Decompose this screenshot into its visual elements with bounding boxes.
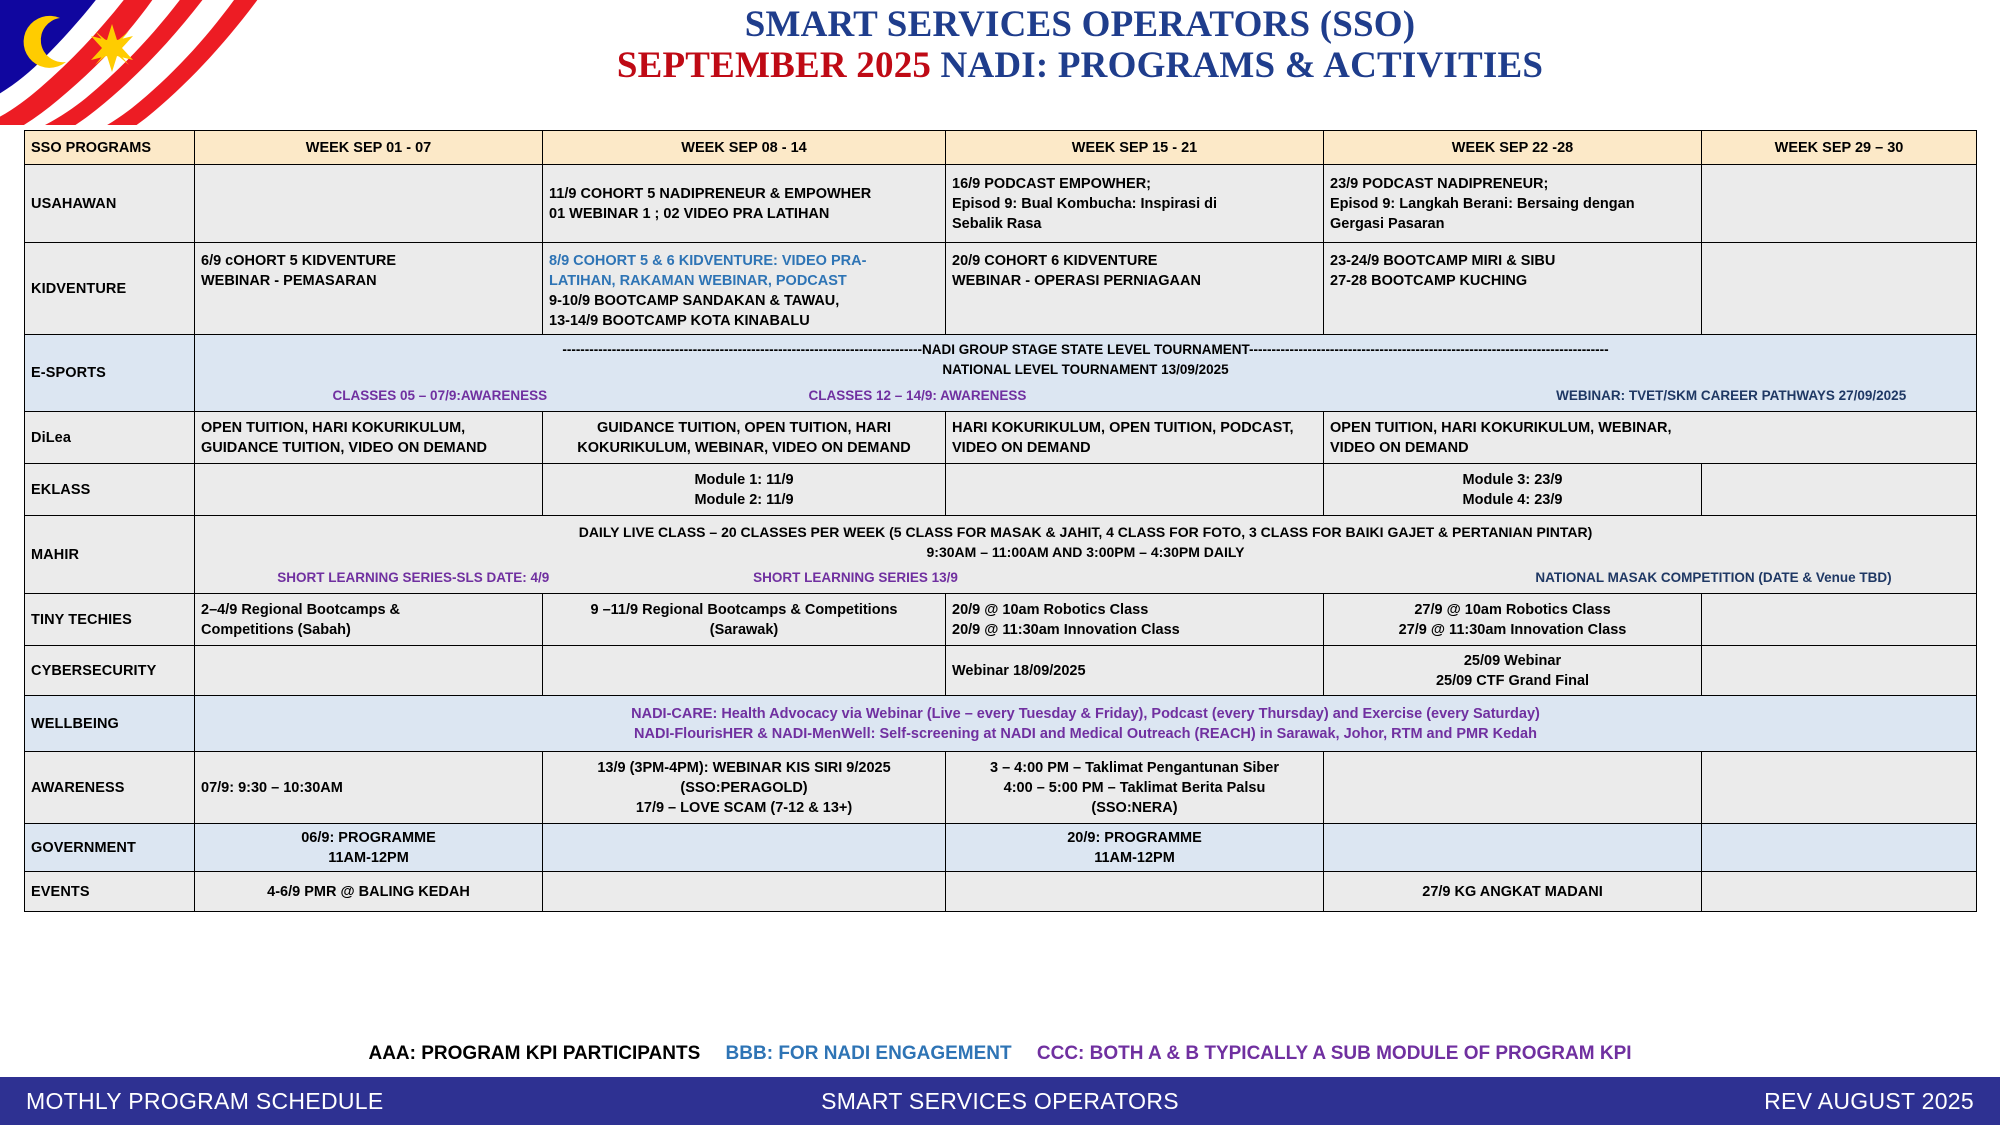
- cell-events-w3: [946, 872, 1324, 912]
- cell-dilea-w3: HARI KOKURIKULUM, OPEN TUITION, PODCAST,…: [946, 412, 1324, 464]
- cell-esports-content: ----------------------------------------…: [195, 335, 1977, 412]
- esports-banner-sub: NATIONAL LEVEL TOURNAMENT 13/09/2025: [201, 360, 1970, 380]
- cell-events-w5: [1702, 872, 1977, 912]
- cell-tiny-w5: [1702, 594, 1977, 646]
- col-header-week1: WEEK SEP 01 - 07: [195, 131, 543, 165]
- table-row-usahawan: USAHAWAN 11/9 COHORT 5 NADIPRENEUR & EMP…: [25, 165, 1977, 243]
- cell-usahawan-w4: 23/9 PODCAST NADIPRENEUR;Episod 9: Langk…: [1324, 165, 1702, 243]
- col-header-week4: WEEK SEP 22 -28: [1324, 131, 1702, 165]
- mahir-competition-w4: NATIONAL MASAK COMPETITION (DATE & Venue…: [1457, 566, 1970, 590]
- cell-dilea-w4: OPEN TUITION, HARI KOKURIKULUM, WEBINAR,…: [1324, 412, 1977, 464]
- cell-kidventure-w5: [1702, 243, 1977, 335]
- wellbeing-line-2: NADI-FlourisHER & NADI-MenWell: Self-scr…: [201, 724, 1970, 744]
- cell-awareness-w5: [1702, 752, 1977, 824]
- cell-eklass-w5: [1702, 464, 1977, 516]
- cell-awareness-w1: 07/9: 9:30 – 10:30AM: [195, 752, 543, 824]
- table-row-awareness: AWARENESS 07/9: 9:30 – 10:30AM 13/9 (3PM…: [25, 752, 1977, 824]
- cell-kidventure-w3: 20/9 COHORT 6 KIDVENTUREWEBINAR - OPERAS…: [946, 243, 1324, 335]
- cell-kidventure-w2: 8/9 COHORT 5 & 6 KIDVENTURE: VIDEO PRA-L…: [543, 243, 946, 335]
- schedule-table: SSO PROGRAMS WEEK SEP 01 - 07 WEEK SEP 0…: [24, 130, 1977, 912]
- cell-events-w2: [543, 872, 946, 912]
- cell-cyber-w3: Webinar 18/09/2025: [946, 646, 1324, 696]
- cell-events-w1: 4-6/9 PMR @ BALING KEDAH: [195, 872, 543, 912]
- cell-government-w3: 20/9: PROGRAMME11AM-12PM: [946, 824, 1324, 872]
- legend-ccc: CCC: BOTH A & B TYPICALLY A SUB MODULE O…: [1037, 1043, 1632, 1064]
- col-header-programs: SSO PROGRAMS: [25, 131, 195, 165]
- cell-cyber-w1: [195, 646, 543, 696]
- mahir-banner-1: DAILY LIVE CLASS – 20 CLASSES PER WEEK (…: [201, 519, 1970, 542]
- cell-awareness-w4: [1324, 752, 1702, 824]
- table-row-eklass: EKLASS Module 1: 11/9Module 2: 11/9 Modu…: [25, 464, 1977, 516]
- cell-government-w1: 06/9: PROGRAMME11AM-12PM: [195, 824, 543, 872]
- wellbeing-line-1: NADI-CARE: Health Advocacy via Webinar (…: [201, 704, 1970, 724]
- mahir-banner-2: 9:30AM – 11:00AM AND 3:00PM – 4:30PM DAI…: [201, 542, 1970, 562]
- program-label-awareness: AWARENESS: [25, 752, 195, 824]
- cell-usahawan-w5: [1702, 165, 1977, 243]
- cell-kidventure-w4: 23-24/9 BOOTCAMP MIRI & SIBU27-28 BOOTCA…: [1324, 243, 1702, 335]
- legend-aaa: AAA: PROGRAM KPI PARTICIPANTS: [368, 1043, 700, 1064]
- table-row-wellbeing: WELLBEING NADI-CARE: Health Advocacy via…: [25, 696, 1977, 752]
- esports-dash-left: ----------------------------------------…: [562, 342, 922, 357]
- legend: AAA: PROGRAM KPI PARTICIPANTS BBB: FOR N…: [0, 1043, 2000, 1065]
- cell-wellbeing-content: NADI-CARE: Health Advocacy via Webinar (…: [195, 696, 1977, 752]
- cell-usahawan-w3: 16/9 PODCAST EMPOWHER;Episod 9: Bual Kom…: [946, 165, 1324, 243]
- program-label-government: GOVERNMENT: [25, 824, 195, 872]
- esports-classes-w2: CLASSES 12 – 14/9: AWARENESS: [679, 384, 1157, 408]
- title-month: SEPTEMBER 2025: [617, 45, 931, 86]
- esports-dash-right: ----------------------------------------…: [1249, 342, 1609, 357]
- table-row-esports: E-SPORTS -------------------------------…: [25, 335, 1977, 412]
- mahir-sls-w2: SHORT LEARNING SERIES 13/9: [626, 566, 1086, 590]
- footer-bar: MOTHLY PROGRAM SCHEDULE SMART SERVICES O…: [0, 1077, 2000, 1125]
- cell-eklass-w1: [195, 464, 543, 516]
- table-row-tiny-techies: TINY TECHIES 2–4/9 Regional Bootcamps &C…: [25, 594, 1977, 646]
- title-subject: NADI: PROGRAMS & ACTIVITIES: [941, 45, 1544, 86]
- footer-left: MOTHLY PROGRAM SCHEDULE: [26, 1088, 384, 1115]
- table-row-events: EVENTS 4-6/9 PMR @ BALING KEDAH 27/9 KG …: [25, 872, 1977, 912]
- col-header-week3: WEEK SEP 15 - 21: [946, 131, 1324, 165]
- cell-mahir-content: DAILY LIVE CLASS – 20 CLASSES PER WEEK (…: [195, 516, 1977, 594]
- program-label-dilea: DiLea: [25, 412, 195, 464]
- program-label-mahir: MAHIR: [25, 516, 195, 594]
- cell-tiny-w2: 9 –11/9 Regional Bootcamps & Competition…: [543, 594, 946, 646]
- table-row-cybersecurity: CYBERSECURITY Webinar 18/09/2025 25/09 W…: [25, 646, 1977, 696]
- cell-cyber-w4: 25/09 Webinar25/09 CTF Grand Final: [1324, 646, 1702, 696]
- cell-kidventure-w1: 6/9 cOHORT 5 KIDVENTUREWEBINAR - PEMASAR…: [195, 243, 543, 335]
- cell-awareness-w3: 3 – 4:00 PM – Taklimat Pengantunan Siber…: [946, 752, 1324, 824]
- col-header-week2: WEEK SEP 08 - 14: [543, 131, 946, 165]
- program-label-wellbeing: WELLBEING: [25, 696, 195, 752]
- malaysia-flag: [0, 0, 300, 125]
- mahir-sls-w1: SHORT LEARNING SERIES-SLS DATE: 4/9: [201, 566, 626, 590]
- cell-usahawan-w1: [195, 165, 543, 243]
- cell-eklass-w3: [946, 464, 1324, 516]
- program-label-eklass: EKLASS: [25, 464, 195, 516]
- cell-usahawan-w2: 11/9 COHORT 5 NADIPRENEUR & EMPOWHER01 W…: [543, 165, 946, 243]
- title-line-1: SMART SERVICES OPERATORS (SSO): [300, 4, 1860, 45]
- cell-kidventure-w2-blue: 8/9 COHORT 5 & 6 KIDVENTURE: VIDEO PRA-L…: [549, 251, 939, 291]
- program-label-kidventure: KIDVENTURE: [25, 243, 195, 335]
- table-row-government: GOVERNMENT 06/9: PROGRAMME11AM-12PM 20/9…: [25, 824, 1977, 872]
- cell-dilea-w2: GUIDANCE TUITION, OPEN TUITION, HARIKOKU…: [543, 412, 946, 464]
- cell-eklass-w4: Module 3: 23/9Module 4: 23/9: [1324, 464, 1702, 516]
- program-label-esports: E-SPORTS: [25, 335, 195, 412]
- cell-kidventure-w2-black: 9-10/9 BOOTCAMP SANDAKAN & TAWAU,13-14/9…: [549, 291, 939, 331]
- cell-tiny-w1: 2–4/9 Regional Bootcamps &Competitions (…: [195, 594, 543, 646]
- table-row-kidventure: KIDVENTURE 6/9 cOHORT 5 KIDVENTUREWEBINA…: [25, 243, 1977, 335]
- table-row-dilea: DiLea OPEN TUITION, HARI KOKURIKULUM,GUI…: [25, 412, 1977, 464]
- cell-awareness-w2: 13/9 (3PM-4PM): WEBINAR KIS SIRI 9/2025(…: [543, 752, 946, 824]
- table-row-mahir: MAHIR DAILY LIVE CLASS – 20 CLASSES PER …: [25, 516, 1977, 594]
- esports-banner-center: NADI GROUP STAGE STATE LEVEL TOURNAMENT: [922, 342, 1249, 357]
- program-label-usahawan: USAHAWAN: [25, 165, 195, 243]
- cell-eklass-w2: Module 1: 11/9Module 2: 11/9: [543, 464, 946, 516]
- program-label-tiny-techies: TINY TECHIES: [25, 594, 195, 646]
- cell-dilea-w1: OPEN TUITION, HARI KOKURIKULUM,GUIDANCE …: [195, 412, 543, 464]
- cell-government-w5: [1702, 824, 1977, 872]
- cell-events-w4: 27/9 KG ANGKAT MADANI: [1324, 872, 1702, 912]
- esports-classes-w1: CLASSES 05 – 07/9:AWARENESS: [201, 384, 679, 408]
- cell-cyber-w2: [543, 646, 946, 696]
- program-label-events: EVENTS: [25, 872, 195, 912]
- cell-tiny-w3: 20/9 @ 10am Robotics Class20/9 @ 11:30am…: [946, 594, 1324, 646]
- legend-bbb: BBB: FOR NADI ENGAGEMENT: [726, 1043, 1012, 1064]
- footer-right: REV AUGUST 2025: [1764, 1088, 1974, 1115]
- esports-webinar-w4: WEBINAR: TVET/SKM CAREER PATHWAYS 27/09/…: [1492, 384, 1970, 408]
- cell-tiny-w4: 27/9 @ 10am Robotics Class27/9 @ 11:30am…: [1324, 594, 1702, 646]
- cell-cyber-w5: [1702, 646, 1977, 696]
- page-title: SMART SERVICES OPERATORS (SSO) SEPTEMBER…: [300, 4, 1860, 86]
- col-header-week5: WEEK SEP 29 – 30: [1702, 131, 1977, 165]
- program-label-cybersecurity: CYBERSECURITY: [25, 646, 195, 696]
- title-line-2: SEPTEMBER 2025 NADI: PROGRAMS & ACTIVITI…: [300, 45, 1860, 86]
- esports-banner: ----------------------------------------…: [201, 338, 1970, 360]
- cell-government-w4: [1324, 824, 1702, 872]
- cell-government-w2: [543, 824, 946, 872]
- table-header-row: SSO PROGRAMS WEEK SEP 01 - 07 WEEK SEP 0…: [25, 131, 1977, 165]
